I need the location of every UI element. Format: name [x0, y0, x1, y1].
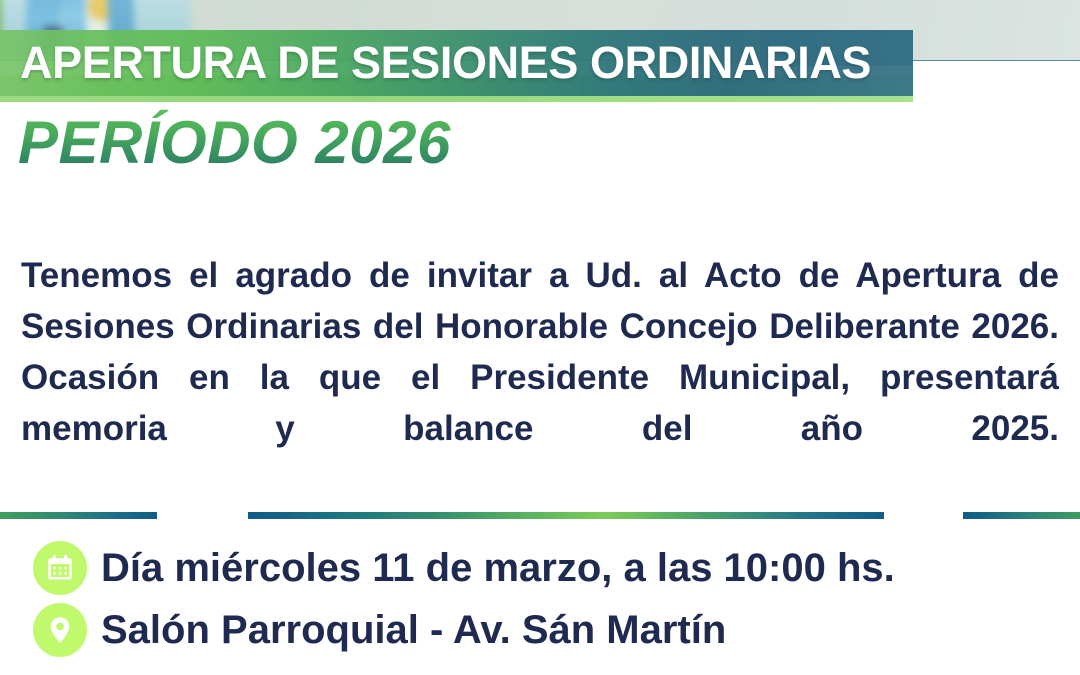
subtitle-period: PERÍODO 2026 [18, 108, 451, 178]
detail-date: Día miércoles 11 de marzo, a las 10:00 h… [33, 541, 895, 595]
invitation-poster: APERTURA DE SESIONES ORDINARIAS PERÍODO … [0, 0, 1080, 675]
location-pin-icon [33, 603, 87, 657]
divider-rule-center [248, 512, 884, 519]
detail-location-label: Salón Parroquial - Av. Sán Martín [101, 603, 726, 657]
detail-date-label: Día miércoles 11 de marzo, a las 10:00 h… [101, 541, 895, 595]
detail-location: Salón Parroquial - Av. Sán Martín [33, 603, 726, 657]
calendar-icon [33, 541, 87, 595]
page-title: APERTURA DE SESIONES ORDINARIAS [20, 36, 910, 90]
divider-rule-left [0, 512, 157, 519]
divider-rule-right [963, 512, 1080, 519]
invitation-paragraph: Tenemos el agrado de invitar a Ud. al Ac… [21, 250, 1059, 454]
